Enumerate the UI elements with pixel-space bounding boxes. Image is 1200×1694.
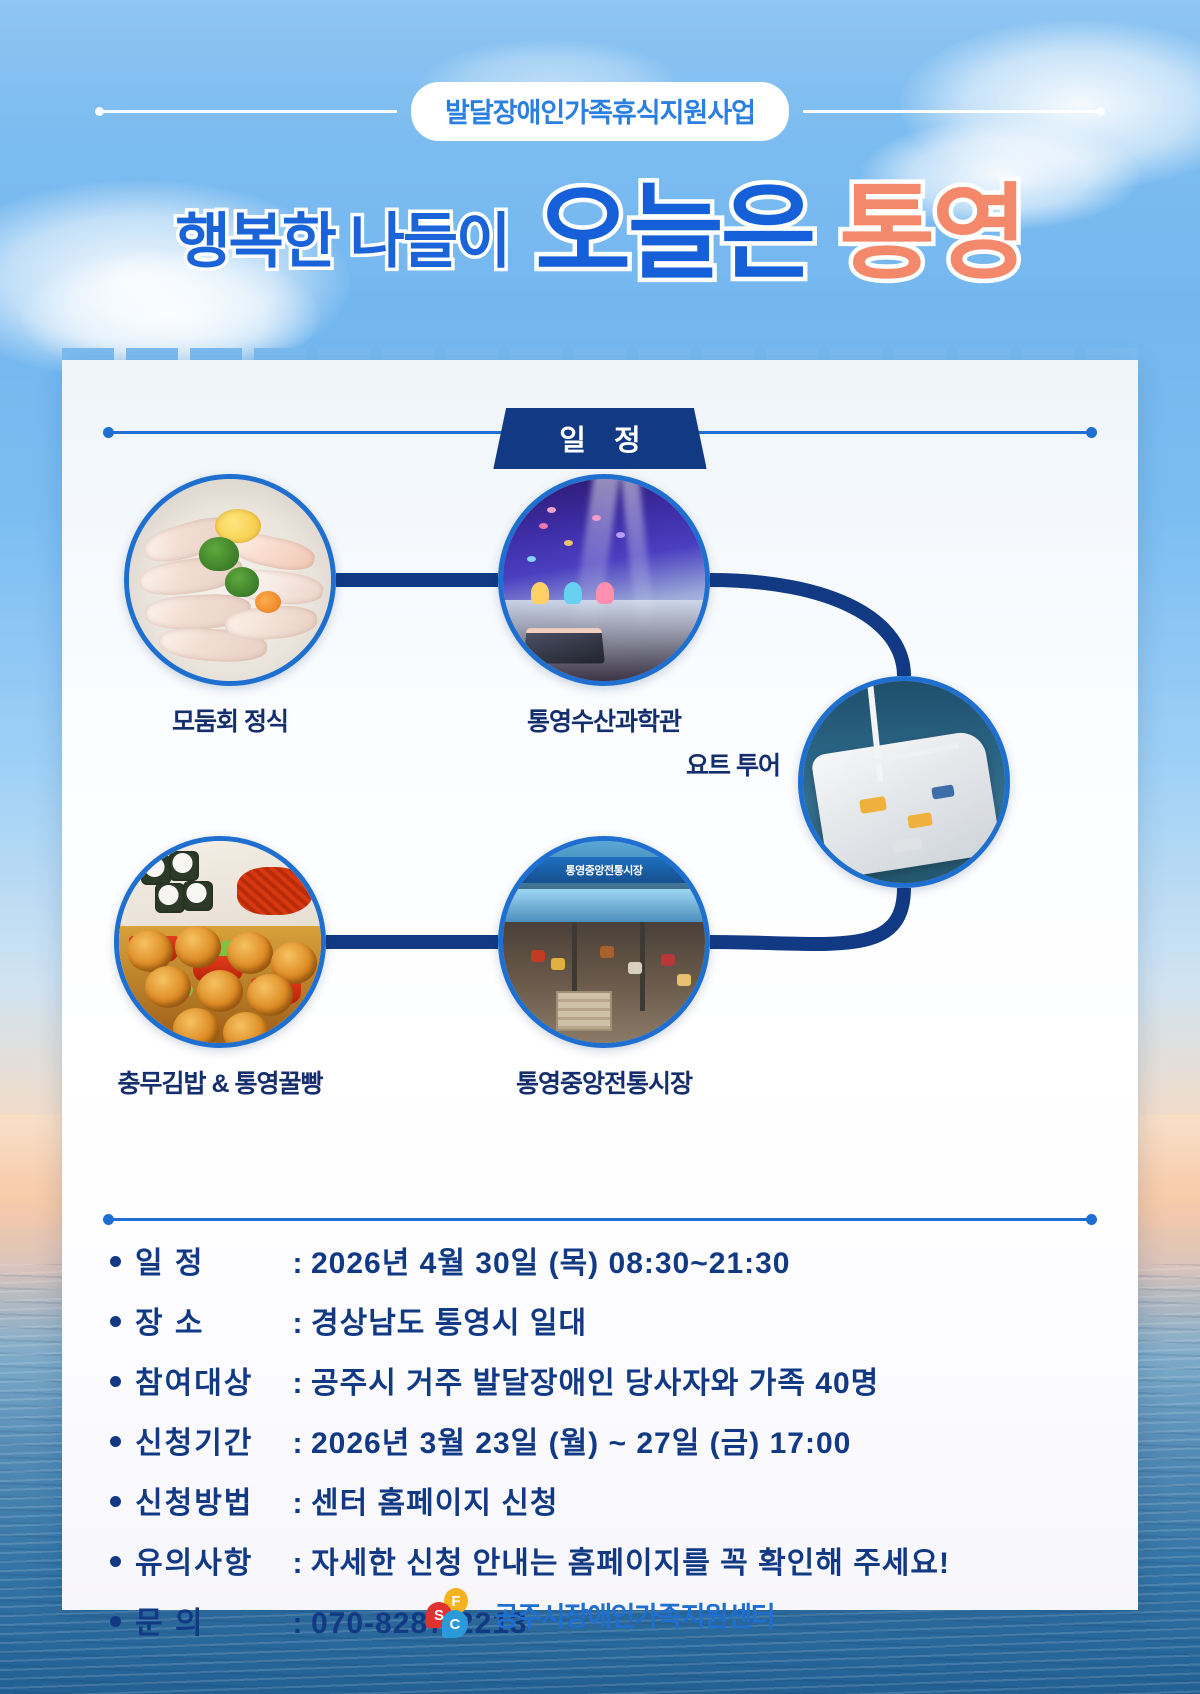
schedule-node-sashimi: 모둠회 정식 <box>124 474 336 738</box>
info-row-notice: 유의사항 : 자세한 신청 안내는 홈페이지를 꼭 확인해 주세요! <box>110 1538 1090 1582</box>
info-value: 센터 홈페이지 신청 <box>311 1478 558 1522</box>
info-value: 공주시 거주 발달장애인 당사자와 가족 40명 <box>311 1358 879 1402</box>
info-colon: : <box>285 1247 311 1281</box>
info-label: 참여대상 <box>135 1358 285 1402</box>
ribbon-line-left <box>97 110 397 113</box>
info-value: 2026년 3월 23일 (월) ~ 27일 (금) 17:00 <box>311 1418 851 1462</box>
schedule-node-aquarium: 통영수산과학관 <box>498 474 710 738</box>
info-value: 경상남도 통영시 일대 <box>311 1298 587 1342</box>
program-ribbon: 발달장애인가족휴식지원사업 <box>0 82 1200 141</box>
schedule-heading: 일 정 <box>62 408 1138 460</box>
schedule-node-gimbap: 충무김밥 & 통영꿀빵 <box>114 836 326 1100</box>
schedule-node-label: 모둠회 정식 <box>124 702 336 738</box>
info-row-application-method: 신청방법 : 센터 홈페이지 신청 <box>110 1478 1090 1522</box>
schedule-node-label: 통영수산과학관 <box>498 702 710 738</box>
info-label: 유의사항 <box>135 1538 285 1582</box>
schedule-node-label: 충무김밥 & 통영꿀빵 <box>114 1064 326 1100</box>
schedule-diagram: 모둠회 정식 통영수산과학관 <box>62 460 1138 1120</box>
info-label: 신청방법 <box>135 1478 285 1522</box>
info-row-schedule: 일 정 : 2026년 4월 30일 (목) 08:30~21:30 <box>110 1238 1090 1282</box>
schedule-node-market: 통영중앙전통시장 통영중앙전통시장 <box>498 836 710 1100</box>
info-colon: : <box>285 1307 311 1341</box>
market-sign-text: 통영중앙전통시장 <box>515 857 693 883</box>
ribbon-line-right <box>803 110 1103 113</box>
title-today: 오늘은 <box>535 182 813 286</box>
info-value: 2026년 4월 30일 (목) 08:30~21:30 <box>311 1238 791 1282</box>
schedule-node-label: 통영중앙전통시장 <box>498 1064 710 1100</box>
poster-root: 발달장애인가족휴식지원사업 행복한 나들이 오늘은 통영 일 정 <box>0 0 1200 1694</box>
center-logo-icon: F S C <box>426 1588 482 1640</box>
title-subphrase: 행복한 나들이 <box>175 193 509 286</box>
info-row-application-period: 신청기간 : 2026년 3월 23일 (월) ~ 27일 (금) 17:00 <box>110 1418 1090 1462</box>
footer: F S C 공주시장애인가족지원센터 <box>0 1588 1200 1640</box>
bullet-icon <box>110 1316 121 1327</box>
bullet-icon <box>110 1556 121 1567</box>
center-name: 공주시장애인가족지원센터 <box>494 1595 774 1634</box>
info-row-participants: 참여대상 : 공주시 거주 발달장애인 당사자와 가족 40명 <box>110 1358 1090 1402</box>
bullet-icon <box>110 1496 121 1507</box>
photo-sashimi <box>124 474 336 686</box>
schedule-node-yacht: 요트 투어 <box>798 676 1010 888</box>
title-tongyeong: 통영 <box>839 182 1024 286</box>
info-value: 자세한 신청 안내는 홈페이지를 꼭 확인해 주세요! <box>311 1538 950 1582</box>
info-colon: : <box>285 1547 311 1581</box>
bullet-icon <box>110 1436 121 1447</box>
info-divider <box>108 1218 1092 1221</box>
poster-title: 행복한 나들이 오늘은 통영 <box>0 182 1200 286</box>
photo-aquarium <box>498 474 710 686</box>
photo-yacht <box>798 676 1010 888</box>
info-colon: : <box>285 1427 311 1461</box>
info-row-location: 장 소 : 경상남도 통영시 일대 <box>110 1298 1090 1342</box>
info-label: 일 정 <box>135 1238 285 1282</box>
schedule-node-label: 요트 투어 <box>620 746 780 782</box>
info-colon: : <box>285 1487 311 1521</box>
photo-market: 통영중앙전통시장 <box>498 836 710 1048</box>
logo-letter-c: C <box>442 1610 468 1638</box>
bullet-icon <box>110 1256 121 1267</box>
photo-gimbap-honeybread <box>114 836 326 1048</box>
info-label: 신청기간 <box>135 1418 285 1462</box>
info-colon: : <box>285 1367 311 1401</box>
bullet-icon <box>110 1376 121 1387</box>
program-ribbon-label: 발달장애인가족휴식지원사업 <box>411 82 789 141</box>
info-label: 장 소 <box>135 1298 285 1342</box>
